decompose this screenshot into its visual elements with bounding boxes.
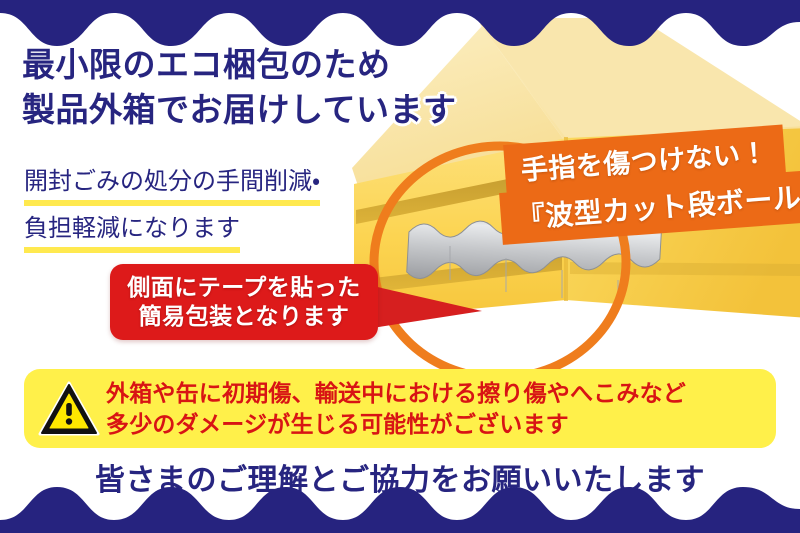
navy-scallop-wave-top [0, 0, 800, 46]
callout-line-2: 簡易包装となります [139, 302, 350, 331]
subtitle-line-1: 開封ごみの処分の手間削減・ [24, 163, 320, 206]
navy-scallop-wave-bottom [0, 487, 800, 533]
red-arrow-pointer [360, 275, 490, 335]
packaging-notice-banner: 最小限のエコ梱包のため 製品外箱でお届けしています 開封ごみの処分の手間削減・ … [0, 0, 800, 533]
subtitle-line-2: 負担軽減になります [24, 210, 240, 253]
headline-line-1: 最小限のエコ梱包のため [22, 43, 457, 88]
page-title: 最小限のエコ梱包のため 製品外箱でお届けしています [22, 43, 457, 133]
side-tape-callout: 側面にテープを貼った 簡易包装となります [110, 264, 378, 340]
warning-line-2: 多少のダメージが生じる可能性がございます [106, 409, 686, 439]
damage-warning-box: 外箱や缶に初期傷、輸送中における擦り傷やへこみなど 多少のダメージが生じる可能性… [24, 369, 776, 448]
warning-triangle-icon [38, 380, 100, 438]
warning-line-1: 外箱や缶に初期傷、輸送中における擦り傷やへこみなど [106, 378, 686, 408]
headline-line-2: 製品外箱でお届けしています [22, 88, 457, 133]
callout-line-1: 側面にテープを貼った [127, 273, 361, 302]
warning-text-block: 外箱や缶に初期傷、輸送中における擦り傷やへこみなど 多少のダメージが生じる可能性… [106, 378, 686, 439]
subtitle-block: 開封ごみの処分の手間削減・ 負担軽減になります [24, 163, 320, 257]
